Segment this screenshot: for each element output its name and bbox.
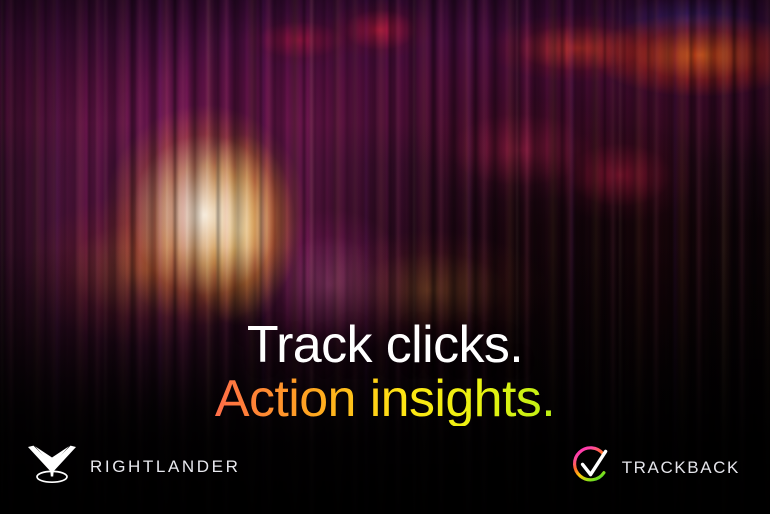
- marketing-banner: Track clicks. Action insights. RIGHTLAND…: [0, 0, 770, 514]
- rightlander-wordmark: RIGHTLANDER: [90, 457, 240, 477]
- trackback-logo[interactable]: TRACKBACK: [572, 445, 740, 490]
- checkmark-ring-icon: [572, 445, 612, 490]
- logo-row: RIGHTLANDER: [0, 428, 770, 514]
- bird-landing-icon: [26, 443, 78, 490]
- trackback-wordmark: TRACKBACK: [622, 458, 740, 478]
- rightlander-logo[interactable]: RIGHTLANDER: [26, 443, 240, 490]
